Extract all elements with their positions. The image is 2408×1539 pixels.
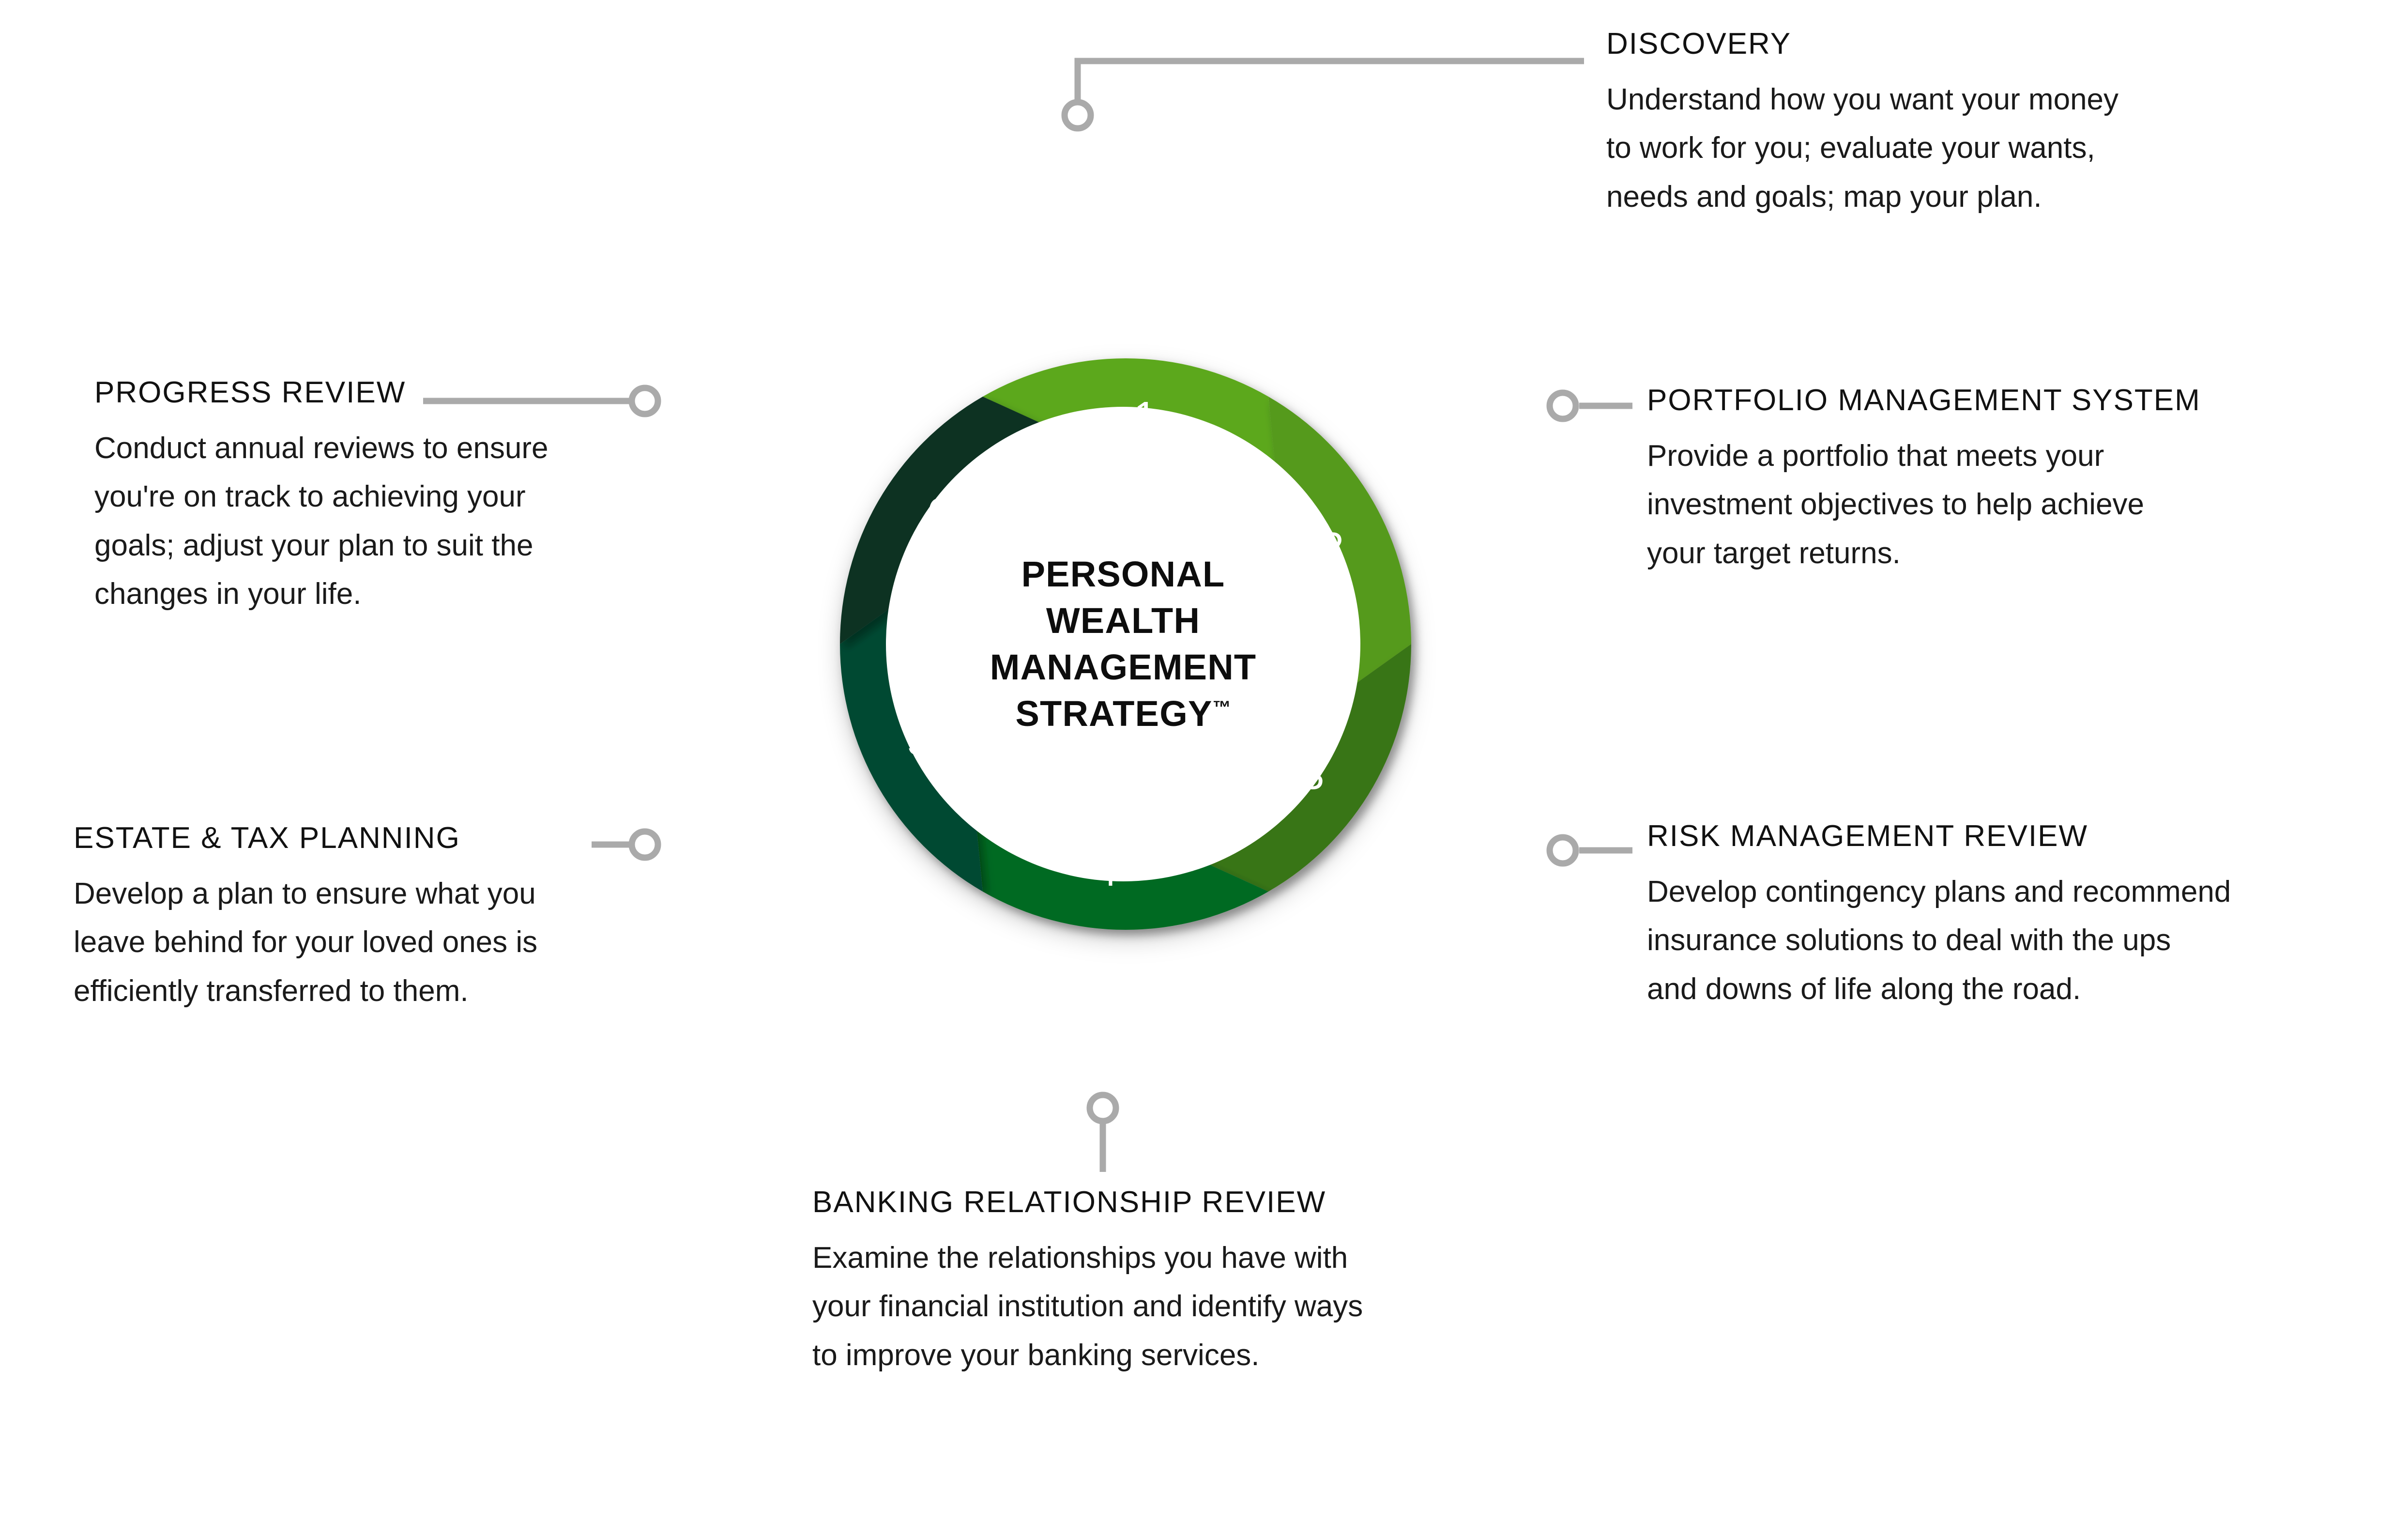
callout-line: Conduct annual reviews to ensure	[94, 424, 646, 473]
callout-body-portfolio: Provide a portfolio that meets your inve…	[1647, 432, 2373, 578]
connector-line-discovery	[1078, 61, 1584, 110]
callout-progress: PROGRESS REVIEW Conduct annual reviews t…	[94, 378, 646, 619]
callout-line: to improve your banking services.	[812, 1331, 1500, 1380]
callout-title-risk: RISK MANAGEMENT REVIEW	[1647, 821, 2383, 851]
connector-dot-portfolio[interactable]	[1550, 393, 1576, 419]
hub-line-2: WEALTH	[1046, 598, 1200, 644]
callout-banking: BANKING RELATIONSHIP REVIEW Examine the …	[812, 1187, 1500, 1380]
callout-risk: RISK MANAGEMENT REVIEW Develop contingen…	[1647, 821, 2383, 1014]
callout-body-discovery: Understand how you want your money to wo…	[1606, 76, 2313, 221]
callout-portfolio: PORTFOLIO MANAGEMENT SYSTEM Provide a po…	[1647, 385, 2373, 578]
callout-body-progress: Conduct annual reviews to ensure you're …	[94, 424, 646, 619]
callout-body-banking: Examine the relationships you have with …	[812, 1234, 1500, 1380]
callout-body-estate: Develop a plan to ensure what you leave …	[74, 870, 645, 1016]
callout-line: Develop contingency plans and recommend	[1647, 868, 2383, 916]
callout-line: your financial institution and identify …	[812, 1282, 1500, 1331]
callout-estate: ESTATE & TAX PLANNING Develop a plan to …	[74, 823, 645, 1016]
trademark-symbol: ™	[1213, 698, 1231, 718]
callout-line: Develop a plan to ensure what you	[74, 870, 645, 918]
callout-line: insurance solutions to deal with the ups	[1647, 916, 2383, 965]
callout-line: needs and goals; map your plan.	[1606, 173, 2313, 221]
hub-line-3: MANAGEMENT	[990, 644, 1257, 691]
callout-discovery: DISCOVERY Understand how you want your m…	[1606, 29, 2313, 221]
callout-line: changes in your life.	[94, 570, 646, 618]
hub-label: PERSONAL WEALTH MANAGEMENT STRATEGY™	[886, 407, 1360, 881]
callout-line: leave behind for your loved ones is	[74, 918, 645, 967]
callout-line: your target returns.	[1647, 529, 2373, 578]
callout-line: Provide a portfolio that meets your	[1647, 432, 2373, 480]
callout-line: Understand how you want your money	[1606, 76, 2313, 124]
hub-line-4-text: STRATEGY	[1015, 693, 1212, 734]
callout-title-estate: ESTATE & TAX PLANNING	[74, 823, 645, 853]
callout-line: goals; adjust your plan to suit the	[94, 522, 646, 570]
callout-line: investment objectives to help achieve	[1647, 480, 2373, 529]
connector-dot-discovery[interactable]	[1065, 102, 1091, 128]
hub-line-4: STRATEGY™	[1015, 691, 1231, 737]
callout-title-banking: BANKING RELATIONSHIP REVIEW	[812, 1187, 1500, 1217]
callout-title-discovery: DISCOVERY	[1606, 29, 2313, 59]
callout-title-progress: PROGRESS REVIEW	[94, 378, 646, 408]
connector-dot-risk[interactable]	[1550, 837, 1576, 863]
diagram-canvas: 123456 PERSONAL WEALTH MANAGEMENT STRATE…	[0, 0, 2408, 1539]
callout-line: efficiently transferred to them.	[74, 967, 645, 1016]
callout-title-portfolio: PORTFOLIO MANAGEMENT SYSTEM	[1647, 385, 2373, 416]
callout-line: Examine the relationships you have with	[812, 1234, 1500, 1282]
hub-line-1: PERSONAL	[1021, 551, 1225, 598]
callout-line: to work for you; evaluate your wants,	[1606, 124, 2313, 172]
callout-body-risk: Develop contingency plans and recommend …	[1647, 868, 2383, 1014]
callout-line: you're on track to achieving your	[94, 473, 646, 521]
callout-line: and downs of life along the road.	[1647, 965, 2383, 1014]
